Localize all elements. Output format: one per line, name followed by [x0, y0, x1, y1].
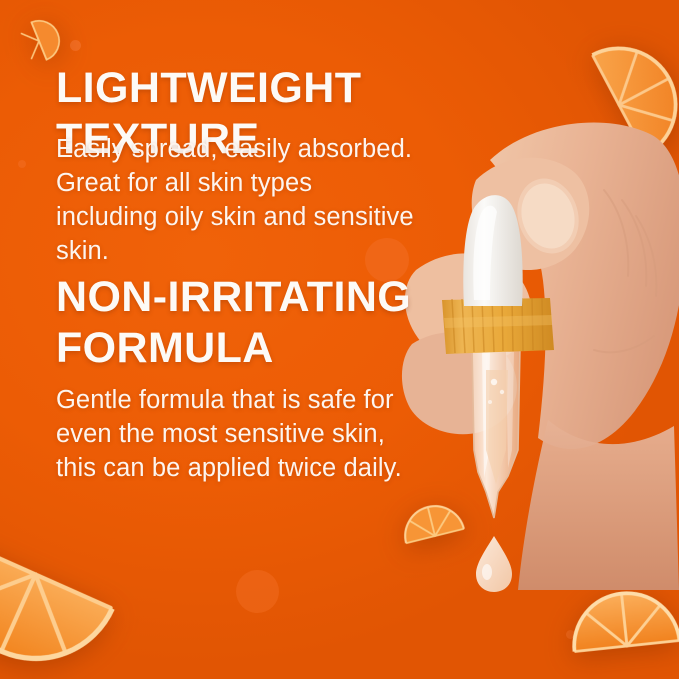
body-line-2: even the most sensitive skin,: [56, 417, 456, 451]
glass-pipette: [472, 346, 520, 518]
accent-dot-mid: [236, 570, 279, 613]
white-rubber-bulb: [463, 195, 522, 306]
accent-dot-bottom: [18, 160, 26, 168]
body-lightweight-texture: Easily spread, easily absorbed. Great fo…: [56, 132, 456, 268]
orange-slice-bottom-left-large: [0, 459, 151, 679]
body-non-irritating-formula: Gentle formula that is safe for even the…: [56, 383, 456, 485]
orange-slice-top-left-small: [12, 14, 67, 69]
accent-dot-top-left: [70, 40, 81, 51]
product-feature-poster: LIGHTWEIGHT TEXTURE Easily spread, easil…: [0, 0, 679, 679]
heading-non-irritating-formula: NON-IRRITATING FORMULA: [56, 272, 456, 374]
ribbed-yellow-cap: [442, 298, 554, 354]
heading-text-line-2: FORMULA: [56, 323, 456, 374]
body-line-1: Gentle formula that is safe for: [56, 383, 456, 417]
serum-droplet: [476, 536, 512, 592]
body-line-4: skin.: [56, 234, 456, 268]
body-line-2: Great for all skin types: [56, 166, 456, 200]
body-line-3: including oily skin and sensitive: [56, 200, 456, 234]
body-line-1: Easily spread, easily absorbed.: [56, 132, 456, 166]
orange-slice-bottom-right: [567, 586, 679, 679]
body-line-3: this can be applied twice daily.: [56, 451, 456, 485]
heading-text-line-1: NON-IRRITATING: [56, 272, 456, 323]
